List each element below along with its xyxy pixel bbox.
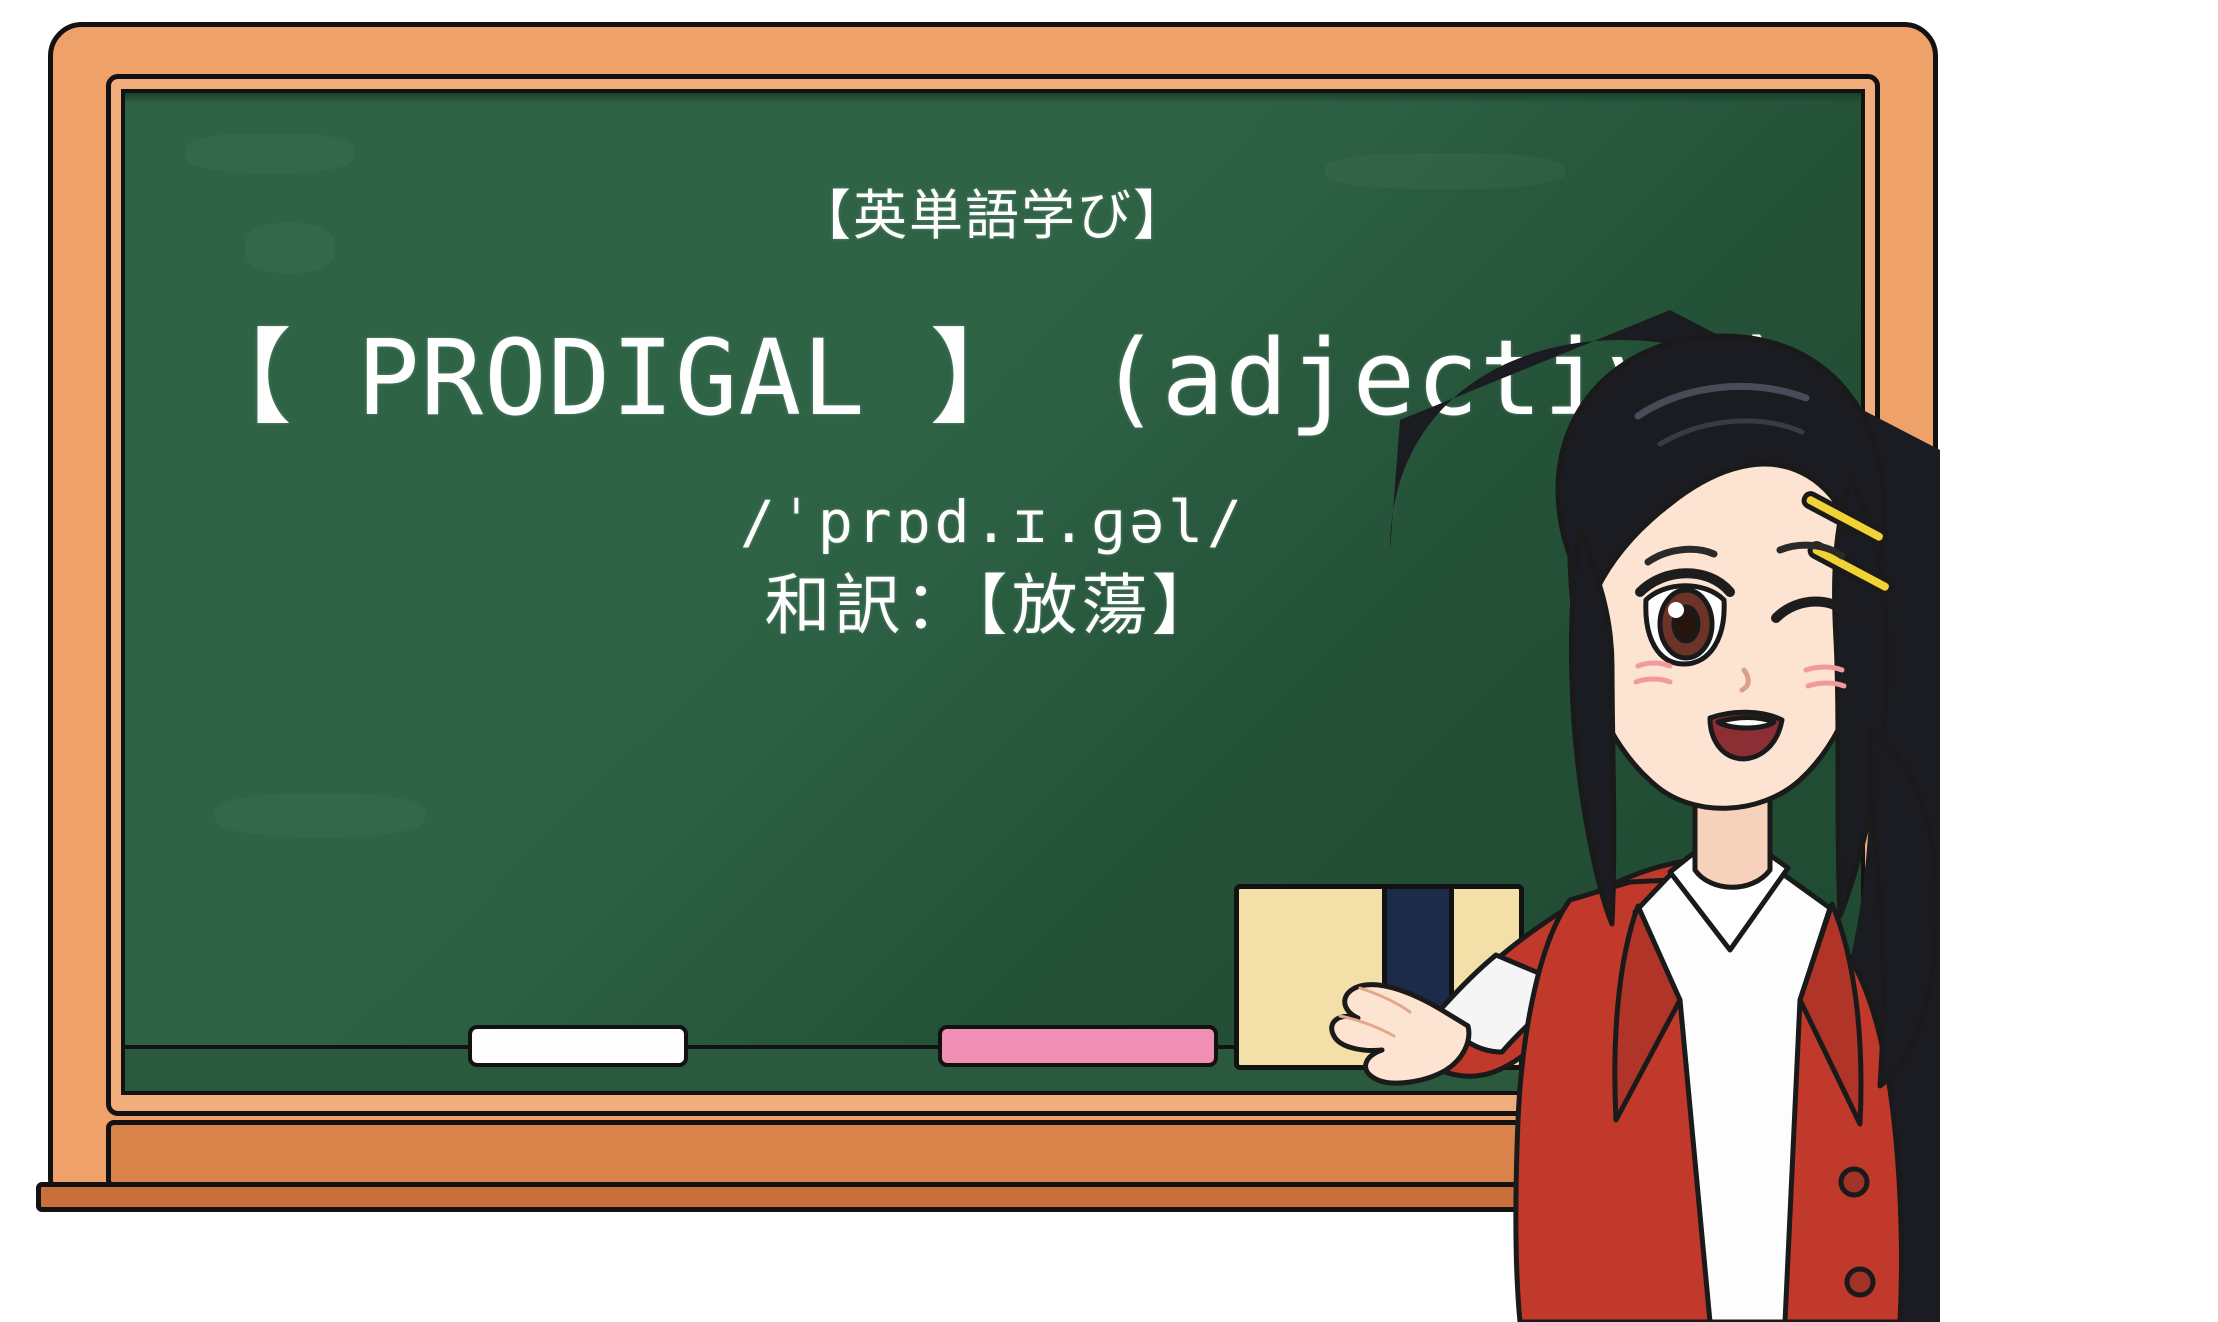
white-chalk-stick bbox=[468, 1025, 688, 1067]
chalk-smudge bbox=[1325, 153, 1565, 189]
chalk-smudge bbox=[185, 133, 355, 173]
board-kicker-text: 【英単語学び】 bbox=[125, 189, 1861, 243]
teacher-character bbox=[1240, 300, 1940, 1322]
chalk-smudge bbox=[215, 793, 425, 837]
pink-chalk-stick bbox=[938, 1025, 1218, 1067]
